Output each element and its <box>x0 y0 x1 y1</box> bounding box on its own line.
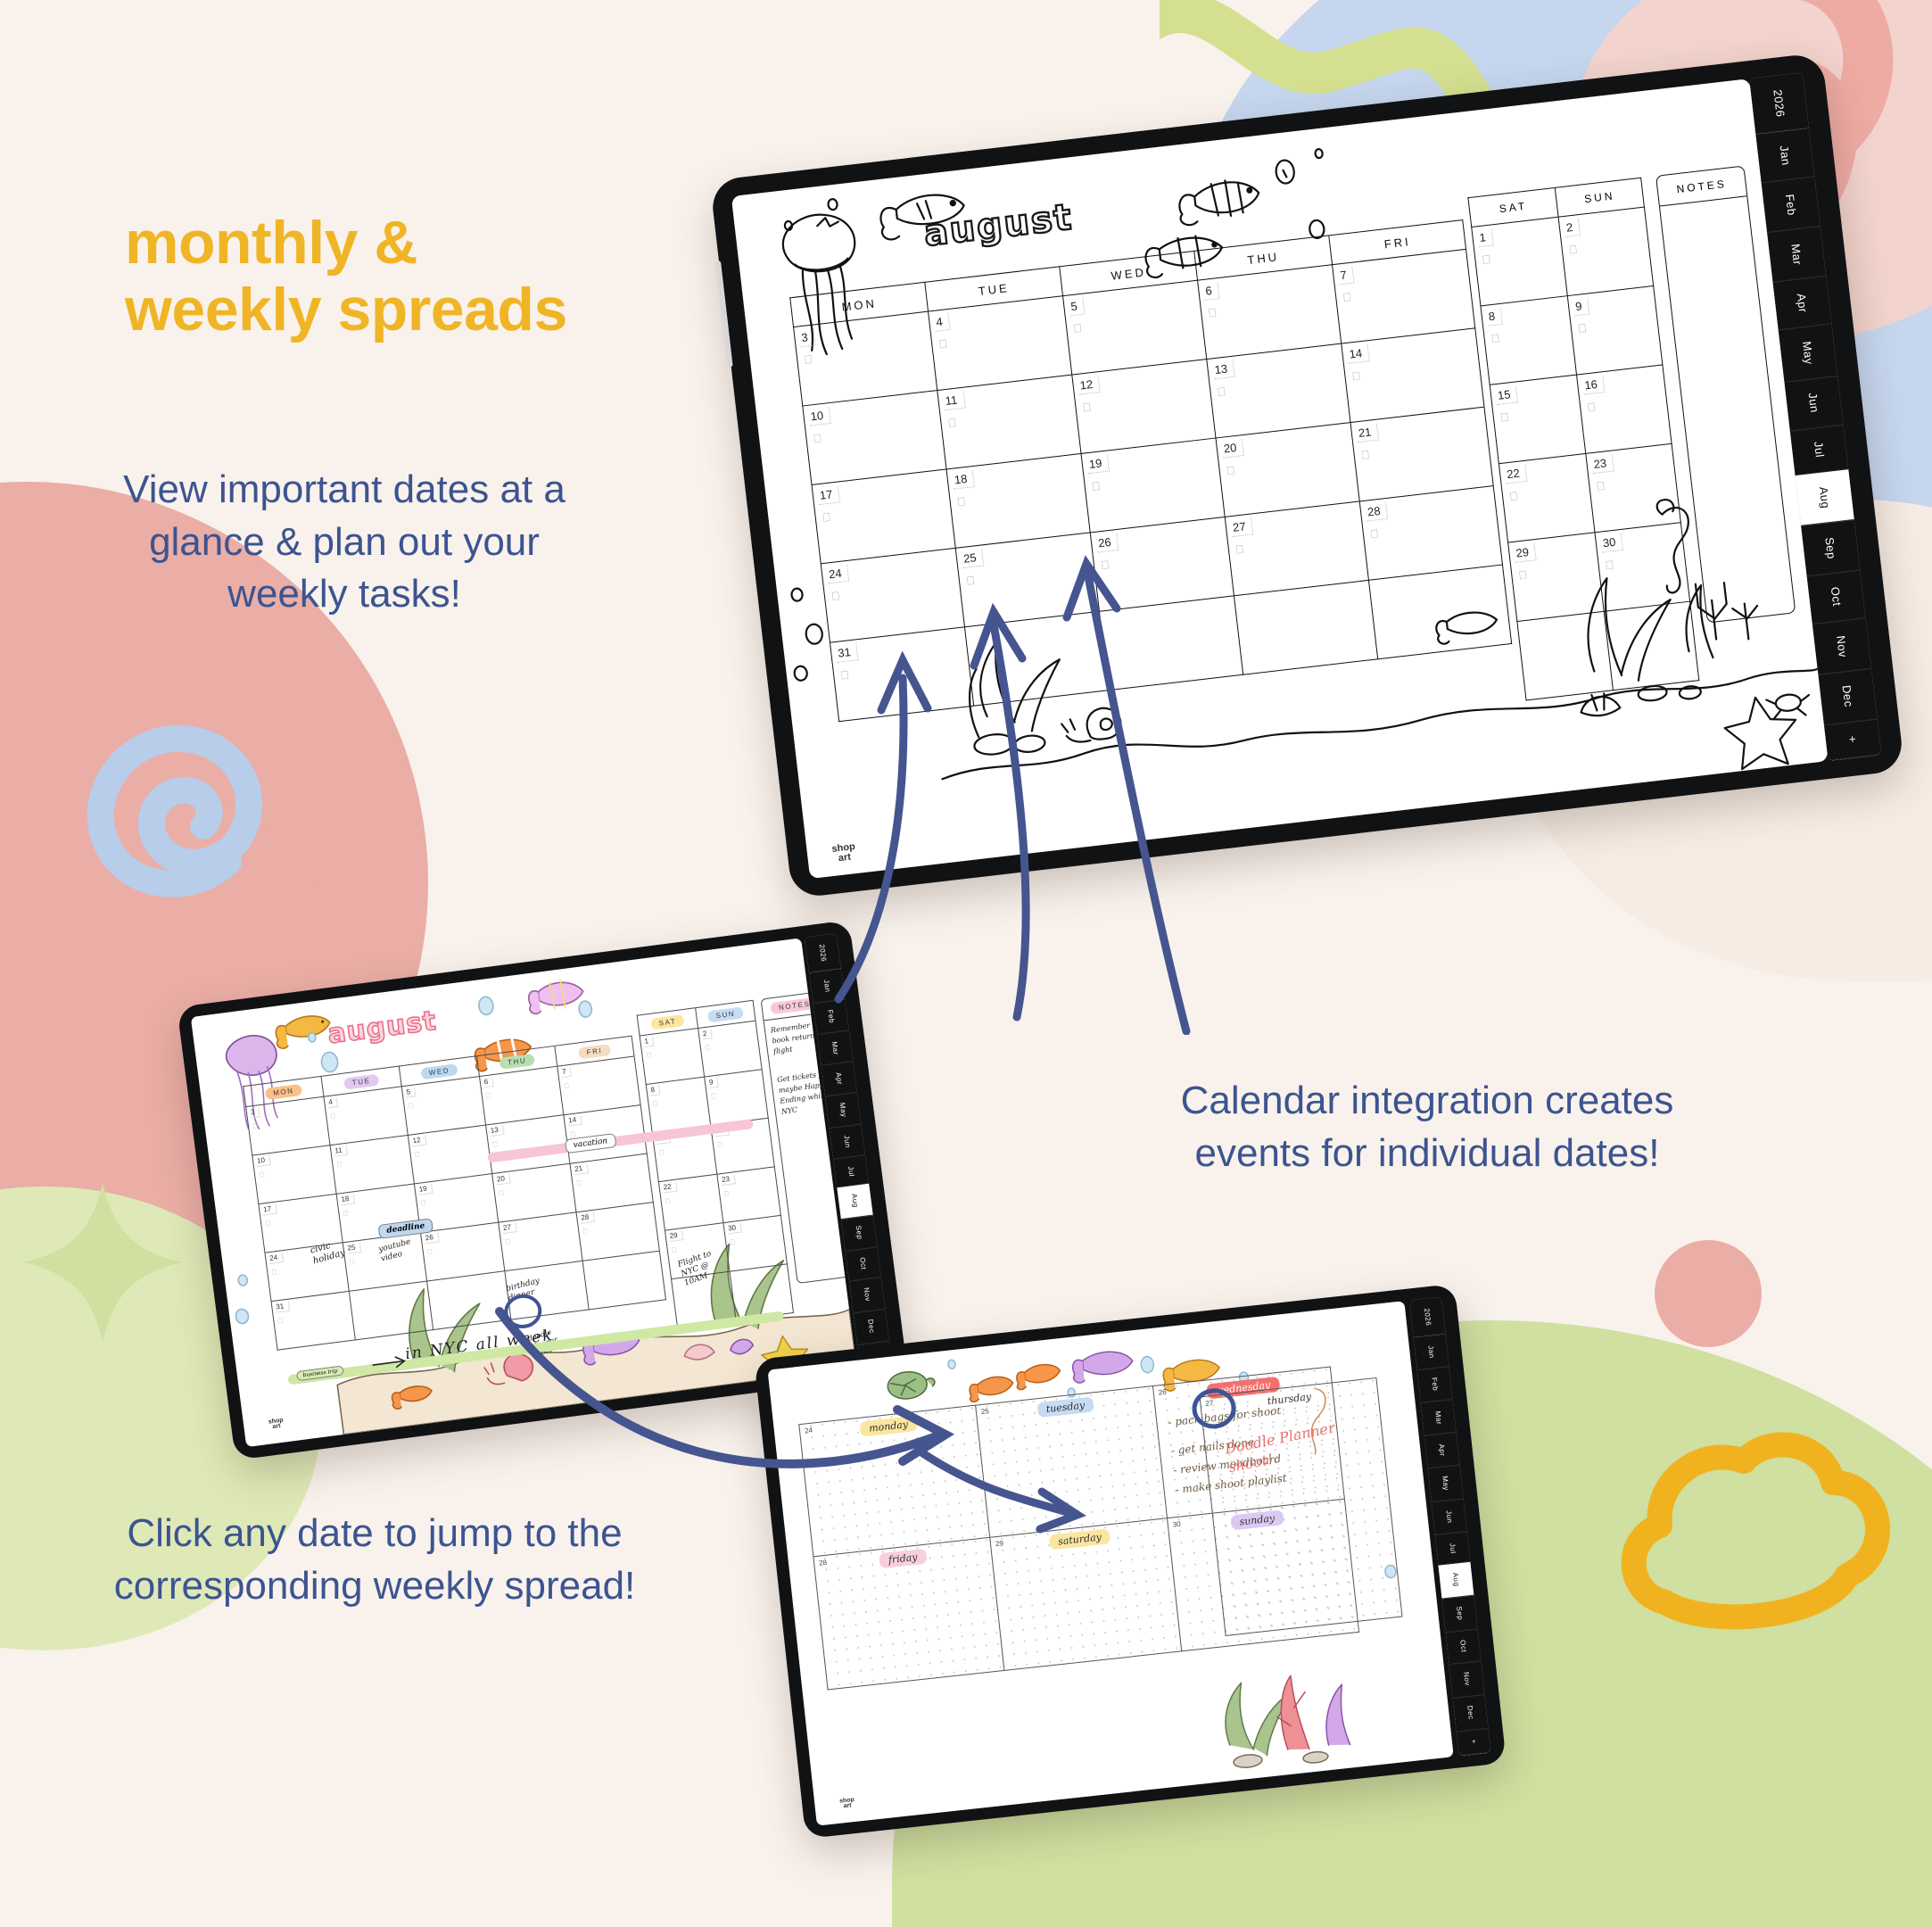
apple-calendar-icon:  <box>711 1092 717 1101</box>
calendar-day-number: 23 <box>1591 454 1614 474</box>
weekly-cell-friday[interactable]: 28 friday <box>813 1538 1004 1691</box>
calendar-day-number: 12 <box>411 1135 426 1146</box>
apple-calendar-icon:  <box>1351 368 1361 383</box>
apple-calendar-icon:  <box>1082 400 1092 414</box>
calendar-day-number: 4 <box>934 313 951 332</box>
calendar-day-number: 20 <box>495 1174 510 1186</box>
calendar-day-number: 13 <box>489 1125 504 1137</box>
weekday-grid: MON TUE WED THU FRI 345671011121… <box>789 219 1512 723</box>
calendar-empty-cell <box>964 612 1108 707</box>
calendar-day-number: 31 <box>835 643 858 663</box>
decor-blue-spiral <box>54 687 321 955</box>
calendar-day-number: 6 <box>483 1077 494 1088</box>
calendar-day-cell[interactable]: 4 <box>928 296 1071 391</box>
tablet-monthly-bw[interactable]: august <box>710 53 1905 899</box>
circled-date-27-icon <box>500 1288 547 1335</box>
apple-logo-icon:  <box>1430 1285 1438 1295</box>
apple-calendar-icon:  <box>485 1092 491 1101</box>
calendar-day-number: 18 <box>952 470 975 490</box>
apple-calendar-icon:  <box>1605 558 1614 572</box>
calendar-day-cell[interactable]: 22 <box>658 1175 723 1231</box>
apple-calendar-icon:  <box>1360 448 1370 462</box>
apple-calendar-icon:  <box>499 1189 505 1198</box>
calendar-day-number: 19 <box>1086 454 1110 474</box>
month-tab-jul[interactable]: Jul <box>833 1155 869 1187</box>
calendar-day-number: 16 <box>1581 376 1605 395</box>
apple-calendar-icon:  <box>839 668 849 682</box>
tablet-volume-buttons[interactable] <box>715 261 733 368</box>
month-tab-plus[interactable]: + <box>1824 719 1881 761</box>
calendar-day-cell[interactable]: 2 <box>1558 208 1655 297</box>
calendar-day-cell[interactable]: 22 <box>1499 454 1595 543</box>
calendar-day-cell[interactable]: 23 <box>1585 444 1681 533</box>
apple-calendar-icon:  <box>1482 252 1491 267</box>
calendar-day-cell[interactable]: 30 <box>722 1216 788 1272</box>
page-title: monthly & weekly spreads <box>125 210 678 343</box>
apple-calendar-icon:  <box>1342 290 1351 304</box>
month-tab-2026[interactable]: 2026 <box>805 933 841 972</box>
calendar-day-number: 27 <box>1230 517 1253 537</box>
notes-header: NOTES <box>1656 167 1746 207</box>
apple-calendar-icon:  <box>1508 489 1518 503</box>
apple-calendar-icon:  <box>730 1238 736 1247</box>
calendar-day-number: 21 <box>574 1163 589 1175</box>
page-title-line2: weekly spreads <box>125 277 678 343</box>
calendar-day-number: 18 <box>340 1194 355 1205</box>
weekly-day-label: saturday <box>1048 1528 1110 1550</box>
calendar-day-number: 17 <box>262 1204 277 1216</box>
arrow-right-icon <box>370 1352 411 1374</box>
callout-calendar-integration: Calendar integration creates events for … <box>1160 1075 1695 1179</box>
apple-calendar-icon:  <box>1234 542 1244 557</box>
decor-green-star <box>18 1178 187 1347</box>
apple-calendar-icon:  <box>830 589 840 603</box>
monthly-calendar-bw: august <box>731 79 1829 879</box>
apple-calendar-icon:  <box>665 1197 671 1206</box>
apple-calendar-icon:  <box>349 1258 355 1267</box>
apple-calendar-icon:  <box>658 1148 665 1157</box>
calendar-day-cell[interactable]: 30 <box>1595 523 1691 612</box>
calendar-day-number: 15 <box>1495 385 1518 405</box>
apple-calendar-icon:  <box>723 1189 730 1198</box>
calendar-day-number: 11 <box>943 392 966 411</box>
calendar-day-cell[interactable]: 15 <box>1490 376 1586 465</box>
apple-calendar-icon:  <box>717 1141 723 1150</box>
month-tab-2026[interactable]: 2026 <box>1749 72 1809 135</box>
calendar-day-number: 1 <box>643 1037 655 1047</box>
apple-calendar-icon:  <box>576 1179 582 1187</box>
month-tab-jan[interactable]: Jan <box>1755 128 1814 183</box>
apple-calendar-icon:  <box>1518 567 1528 582</box>
month-tab-sep[interactable]: Sep <box>841 1215 877 1251</box>
apple-calendar-icon:  <box>564 1081 570 1090</box>
apple-calendar-icon:  <box>271 1268 277 1277</box>
calendar-day-number: 8 <box>1486 308 1503 327</box>
apple-calendar-icon:  <box>420 1199 426 1208</box>
apple-calendar-icon:  <box>277 1317 284 1326</box>
month-tab-oct[interactable]: Oct <box>1446 1629 1482 1665</box>
calendar-empty-cell <box>730 1264 795 1320</box>
month-tab-aug[interactable]: Aug <box>1796 469 1854 525</box>
calendar-day-number: 21 <box>1356 424 1379 443</box>
month-tab-sep[interactable]: Sep <box>1801 520 1860 576</box>
calendar-day-number: 28 <box>580 1212 595 1224</box>
calendar-day-cell[interactable]: 7 <box>1332 250 1475 344</box>
calendar-day-number: 4 <box>327 1097 339 1108</box>
month-tab-may[interactable]: May <box>1779 325 1837 383</box>
apple-calendar-icon:  <box>1369 526 1379 541</box>
weekly-cell-saturday[interactable]: 29 saturday <box>990 1518 1182 1671</box>
month-tab-jan[interactable]: Jan <box>809 969 845 1004</box>
calendar-day-number: 20 <box>1221 439 1244 459</box>
calendar-day-cell[interactable]: 24 <box>821 549 964 643</box>
weekly-day-label: thursday <box>1258 1388 1321 1410</box>
calendar-day-cell[interactable]: 14 <box>1341 328 1484 423</box>
apple-calendar-icon:  <box>704 1043 710 1052</box>
apple-calendar-icon:  <box>582 1228 589 1236</box>
calendar-day-number: 17 <box>817 485 840 505</box>
month-tab-jun[interactable]: Jun <box>1785 376 1844 431</box>
calendar-day-cell[interactable]: 27 <box>1225 501 1368 596</box>
calendar-day-number: 10 <box>256 1155 271 1167</box>
weekly-day-label: tuesday <box>1036 1396 1094 1418</box>
calendar-day-number: 12 <box>1077 376 1101 395</box>
calendar-day-number: 5 <box>405 1087 417 1097</box>
tablet-weekly[interactable]: 24 monday 25 tuesday 26 wednesday - pack… <box>754 1284 1507 1839</box>
month-tab-2026[interactable]: 2026 <box>1409 1297 1445 1338</box>
apple-calendar-icon:  <box>1100 558 1110 572</box>
calendar-day-cell[interactable]: 1 <box>1471 218 1567 307</box>
calendar-day-number: 26 <box>424 1232 439 1244</box>
month-tab-mar[interactable]: Mar <box>817 1030 853 1066</box>
calendar-day-number: 25 <box>961 549 984 568</box>
calendar-day-cell[interactable]: 11 <box>937 376 1080 470</box>
circled-date-27-icon <box>1187 1382 1241 1435</box>
weekly-cell-tuesday[interactable]: 25 tuesday <box>976 1385 1168 1538</box>
calendar-day-number: 6 <box>1203 282 1220 301</box>
calendar-day-cell[interactable]: 21 <box>1350 408 1494 502</box>
calendar-day-number: 31 <box>275 1302 290 1313</box>
month-tab-feb[interactable]: Feb <box>813 999 849 1035</box>
calendar-day-cell[interactable]: 25 <box>955 533 1099 627</box>
calendar-day-number: 11 <box>334 1145 349 1157</box>
calendar-day-cell[interactable]: 10 <box>802 391 945 485</box>
calendar-day-number: 7 <box>561 1067 573 1078</box>
month-tab-may[interactable]: May <box>1428 1465 1464 1502</box>
apple-calendar-icon:  <box>671 1245 677 1254</box>
calendar-empty-cell <box>1234 581 1377 675</box>
apple-calendar-icon:  <box>426 1247 433 1256</box>
weekly-date-number: 25 <box>980 1407 989 1416</box>
calendar-empty-cell <box>1099 596 1243 691</box>
calendar-day-cell[interactable]: 6 <box>1197 265 1341 360</box>
calendar-day-number: 2 <box>1564 219 1581 237</box>
weekly-cell-monday[interactable]: 24 monday <box>798 1405 990 1558</box>
calendar-day-number: 14 <box>1347 344 1370 364</box>
calendar-day-number: 9 <box>707 1078 719 1088</box>
apple-logo-icon:  <box>1783 54 1795 70</box>
apple-calendar-icon:  <box>813 431 822 445</box>
calendar-empty-cell <box>426 1271 510 1330</box>
apple-calendar-icon:  <box>414 1150 420 1159</box>
calendar-day-cell[interactable]: 5 <box>1062 281 1206 376</box>
apple-logo-icon:  <box>824 922 832 932</box>
calendar-day-number: 30 <box>1600 533 1623 553</box>
calendar-day-number: 26 <box>1095 533 1119 553</box>
apple-calendar-icon:  <box>1586 400 1596 414</box>
month-title-color: august <box>326 1005 438 1051</box>
decor-yellow-cloud-icon <box>1610 1427 1904 1659</box>
month-tab-jun[interactable]: Jun <box>1432 1500 1467 1535</box>
calendar-day-cell[interactable]: 9 <box>1567 286 1664 376</box>
calendar-day-number: 1 <box>1477 228 1494 247</box>
calendar-day-cell[interactable]: 3 <box>793 312 937 407</box>
apple-calendar-icon:  <box>1577 321 1587 335</box>
calendar-day-number: 5 <box>1069 298 1086 317</box>
month-tab-nov[interactable]: Nov <box>849 1278 885 1313</box>
calendar-day-cell[interactable]: 9 <box>704 1070 769 1126</box>
weekly-date-number: 26 <box>1158 1388 1167 1397</box>
calendar-day-cell[interactable]: 26 <box>1090 517 1234 612</box>
calendar-day-number: 3 <box>799 328 816 347</box>
calendar-day-number: 28 <box>1365 502 1388 522</box>
weekly-spread: 24 monday 25 tuesday 26 wednesday - pack… <box>767 1301 1453 1826</box>
calendar-day-cell[interactable]: 12 <box>1071 360 1215 454</box>
calendar-day-cell[interactable]: 18 <box>946 454 1090 549</box>
calendar-day-cell[interactable]: 2 <box>698 1021 763 1078</box>
calendar-empty-cell <box>349 1282 433 1341</box>
month-tab-apr[interactable]: Apr <box>1424 1433 1460 1468</box>
month-tab-mar[interactable]: Mar <box>1421 1400 1457 1436</box>
decor-pink-dot <box>1655 1240 1762 1347</box>
tablet-screen-weekly[interactable]: 24 monday 25 tuesday 26 wednesday - pack… <box>767 1301 1453 1826</box>
calendar-day-number: 24 <box>268 1253 284 1264</box>
tablet-screen-monthly-bw[interactable]: august <box>731 79 1829 879</box>
calendar-empty-cell <box>582 1252 666 1311</box>
month-tab-plus[interactable]: + <box>1457 1728 1491 1756</box>
calendar-day-cell[interactable]: 23 <box>716 1167 781 1223</box>
calendar-day-number: 14 <box>567 1115 582 1127</box>
brand-logo: shopart <box>268 1418 285 1431</box>
apple-calendar-icon:  <box>265 1220 271 1228</box>
callout-click-date: Click any date to jump to the correspond… <box>98 1508 651 1612</box>
apple-calendar-icon:  <box>1207 305 1217 319</box>
calendar-day-cell[interactable]: 20 <box>1216 423 1359 517</box>
month-tab-nov[interactable]: Nov <box>1812 618 1871 674</box>
calendar-day-number: 13 <box>1212 360 1235 380</box>
calendar-day-cell[interactable]: 1 <box>640 1029 705 1085</box>
weekly-highlight-note: Doodle Planner shoot! <box>1224 1413 1371 1477</box>
month-tab-jan[interactable]: Jan <box>1414 1334 1449 1369</box>
month-tab-apr[interactable]: Apr <box>822 1062 857 1096</box>
color-weekday-cells: 3456710111213141718192021… <box>245 1056 666 1350</box>
calendar-day-number: 19 <box>417 1184 433 1195</box>
calendar-empty-cell <box>1368 565 1512 659</box>
weekly-day-label: friday <box>879 1549 927 1569</box>
apple-calendar-icon:  <box>252 1122 259 1131</box>
apple-calendar-icon:  <box>259 1170 265 1179</box>
apple-calendar-icon:  <box>938 336 948 351</box>
calendar-day-number: 7 <box>1338 267 1355 285</box>
month-tab-apr[interactable]: Apr <box>1773 277 1832 331</box>
calendar-day-number: 10 <box>808 407 831 426</box>
apple-calendar-icon:  <box>336 1161 343 1170</box>
brand-logo: shopart <box>839 1798 855 1811</box>
apple-calendar-icon:  <box>1490 331 1500 345</box>
calendar-day-number: 27 <box>502 1222 517 1234</box>
month-tab-sep[interactable]: Sep <box>1442 1595 1478 1633</box>
callout-view-dates: View important dates at a glance & plan … <box>86 464 603 621</box>
calendar-day-number: 30 <box>727 1223 742 1235</box>
calendar-day-cell[interactable]: 19 <box>1081 439 1225 533</box>
calendar-day-cell[interactable]: 8 <box>1480 296 1576 385</box>
apple-calendar-icon:  <box>1217 385 1226 399</box>
calendar-day-number: 23 <box>721 1174 736 1186</box>
apple-calendar-icon:  <box>646 1051 652 1060</box>
calendar-day-cell[interactable]: 31 <box>271 1292 355 1351</box>
calendar-day-number: 3 <box>249 1107 260 1118</box>
calendar-day-number: 29 <box>668 1230 683 1242</box>
weekly-date-number: 28 <box>819 1559 828 1567</box>
weekly-date-number: 29 <box>995 1539 1004 1548</box>
promo-graphic: monthly & weekly spreads View important … <box>0 0 1932 1927</box>
calendar-day-cell[interactable]: 31 <box>830 627 973 722</box>
month-title: august <box>921 196 1075 254</box>
month-tab-dec[interactable]: Dec <box>1453 1695 1489 1733</box>
apple-calendar-icon:  <box>965 574 975 588</box>
calendar-day-number: 8 <box>649 1085 661 1096</box>
apple-calendar-icon:  <box>491 1140 498 1149</box>
color-weekday-grid: MON TUE WED THU FRI 345671011121… <box>243 1036 666 1352</box>
calendar-day-number: 22 <box>1504 465 1527 484</box>
apple-calendar-icon:  <box>804 352 813 367</box>
calendar-day-cell[interactable]: 29 <box>1507 533 1604 622</box>
weekday-cells: 3456710111213141718192021… <box>793 250 1512 722</box>
calendar-day-number: 2 <box>701 1029 713 1039</box>
month-tab-oct[interactable]: Oct <box>1807 570 1866 624</box>
page-title-line1: monthly & <box>125 210 678 277</box>
calendar-day-number: 9 <box>1573 297 1589 316</box>
apple-calendar-icon:  <box>408 1102 414 1111</box>
apple-calendar-icon:  <box>1499 410 1509 425</box>
month-tab-mar[interactable]: Mar <box>1767 227 1826 283</box>
weekly-date-number: 30 <box>1172 1520 1181 1529</box>
apple-calendar-icon:  <box>822 510 831 525</box>
calendar-day-cell[interactable]: 16 <box>1576 365 1672 454</box>
weekly-date-number: 24 <box>805 1427 813 1435</box>
apple-calendar-icon:  <box>1072 321 1082 335</box>
apple-calendar-icon:  <box>505 1237 511 1246</box>
calendar-day-cell[interactable]: 28 <box>1359 486 1503 581</box>
month-tab-feb[interactable]: Feb <box>1417 1367 1453 1403</box>
month-tab-nov[interactable]: Nov <box>1449 1661 1485 1699</box>
month-tab-may[interactable]: May <box>825 1092 861 1129</box>
apple-calendar-icon:  <box>343 1209 349 1218</box>
month-tab-dec[interactable]: Dec <box>1818 669 1877 725</box>
calendar-empty-cell <box>1516 612 1613 701</box>
month-tab-jul[interactable]: Jul <box>1435 1532 1470 1566</box>
apple-calendar-icon:  <box>330 1112 336 1121</box>
month-tab-aug[interactable]: Aug <box>1439 1562 1474 1600</box>
month-tab-jul[interactable]: Jul <box>1790 425 1848 476</box>
weekly-day-label: monday <box>859 1416 917 1437</box>
calendar-day-cell[interactable]: 13 <box>1206 344 1350 439</box>
month-tab-feb[interactable]: Feb <box>1762 177 1821 233</box>
calendar-empty-cell <box>1604 602 1700 691</box>
month-tab-jun[interactable]: Jun <box>830 1125 865 1160</box>
month-tab-oct[interactable]: Oct <box>846 1247 881 1281</box>
apple-calendar-icon:  <box>1226 463 1235 477</box>
calendar-day-number: 24 <box>826 565 849 584</box>
apple-calendar-icon:  <box>1091 479 1101 493</box>
apple-calendar-icon:  <box>1568 243 1578 257</box>
apple-calendar-icon:  <box>947 416 957 430</box>
calendar-day-cell[interactable]: 17 <box>812 469 955 564</box>
calendar-day-number: 29 <box>1514 543 1537 563</box>
brand-logo: shopart <box>831 842 857 864</box>
apple-calendar-icon:  <box>1596 479 1606 493</box>
month-tab-dec[interactable]: Dec <box>854 1309 889 1344</box>
month-tab-aug[interactable]: Aug <box>837 1184 872 1220</box>
apple-calendar-icon:  <box>652 1100 658 1109</box>
calendar-day-number: 22 <box>662 1182 677 1194</box>
apple-calendar-icon:  <box>956 494 966 509</box>
